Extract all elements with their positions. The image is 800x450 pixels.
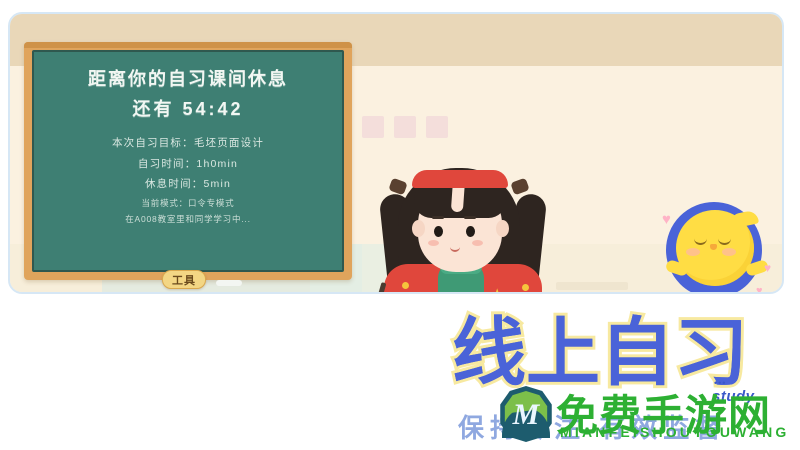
chick-leg (722, 292, 730, 294)
chick-blush (722, 248, 736, 256)
app-title: 线上自习 (452, 316, 748, 390)
heart-icon: ♥ (662, 212, 671, 227)
eye (434, 226, 443, 237)
hair-tie (388, 178, 407, 196)
blackboard-detail-room: 在A008教室里和同学学习中... (44, 211, 332, 228)
wall-tile (362, 116, 384, 138)
eye (466, 226, 475, 237)
eyebrow (464, 216, 476, 219)
chick-leg (700, 292, 708, 294)
chick-mascot-icon: ♥ ♥ ♥ (660, 196, 772, 294)
screenshot-root: 距离你的自习课间休息 还有 54:42 本次自习目标：毛坯页面设计 自习时间：1… (0, 0, 800, 450)
blackboard-detail-goal: 本次自习目标：毛坯页面设计 (44, 133, 332, 153)
blush (472, 240, 483, 246)
blackboard-detail-break-time: 休息时间：5min (44, 174, 332, 194)
coat-button (522, 284, 529, 291)
blackboard: 距离你的自习课间休息 还有 54:42 本次自习目标：毛坯页面设计 自习时间：1… (32, 50, 344, 272)
wall-tile (394, 116, 416, 138)
wall-tile (426, 116, 448, 138)
watermark-site-pinyin: MIANFEISHOUYOUWANG (560, 424, 790, 440)
chalk-icon (216, 280, 242, 286)
ear (412, 220, 425, 237)
countdown-headline-line2: 还有 54:42 (44, 95, 332, 121)
coat-button (402, 282, 409, 289)
tools-button[interactable]: 工具 (162, 270, 206, 289)
countdown-headline-line1: 距离你的自习课间休息 (44, 66, 332, 92)
ear (496, 220, 509, 237)
watermark-badge-letter: M (498, 398, 554, 432)
pencil-icon (371, 282, 387, 294)
blackboard-detail-mode: 当前模式：口令专模式 (44, 195, 332, 212)
blackboard-detail-study-time: 自习时间：1h0min (44, 154, 332, 174)
student-girl-illustration: ★ (362, 164, 567, 294)
blackboard-frame: 距离你的自习课间休息 还有 54:42 本次自习目标：毛坯页面设计 自习时间：1… (24, 42, 352, 280)
heart-icon: ♥ (764, 262, 771, 274)
hair-tie (510, 178, 529, 196)
star-icon: ★ (490, 288, 504, 294)
classroom-illustration: 距离你的自习课间休息 还有 54:42 本次自习目标：毛坯页面设计 自习时间：1… (8, 12, 784, 294)
red-headband (412, 170, 508, 188)
blackboard-content: 距离你的自习课间休息 还有 54:42 本次自习目标：毛坯页面设计 自习时间：1… (34, 52, 342, 270)
blush (428, 240, 439, 246)
heart-icon: ♥ (756, 286, 763, 294)
book (556, 292, 628, 294)
eyebrow (432, 216, 444, 219)
chick-blush (686, 248, 700, 256)
blackboard-detail-list: 本次自习目标：毛坯页面设计 自习时间：1h0min 休息时间：5min 当前模式… (44, 133, 332, 228)
watermark-badge-icon: M (498, 386, 554, 442)
